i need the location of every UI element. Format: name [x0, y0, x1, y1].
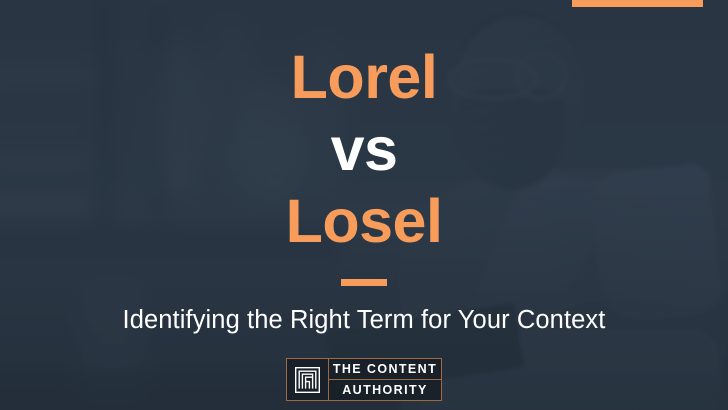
content-authority-logo: THE CONTENT AUTHORITY	[286, 358, 442, 401]
orange-divider	[341, 279, 387, 286]
headline-connector: vs	[0, 119, 728, 180]
logo-line-1: THE CONTENT	[329, 359, 441, 380]
subtitle-text: Identifying the Right Term for Your Cont…	[123, 306, 606, 335]
logo-line-2: AUTHORITY	[329, 380, 441, 400]
logo-wordmark: THE CONTENT AUTHORITY	[329, 359, 441, 400]
headline-term-a: Lorel	[0, 47, 728, 108]
feature-image-canvas: Lorel vs Losel Identifying the Right Ter…	[0, 0, 728, 410]
headline-term-b: Losel	[0, 191, 728, 252]
content-stack: Lorel vs Losel Identifying the Right Ter…	[0, 0, 728, 410]
maze-square-a-icon	[287, 359, 329, 400]
